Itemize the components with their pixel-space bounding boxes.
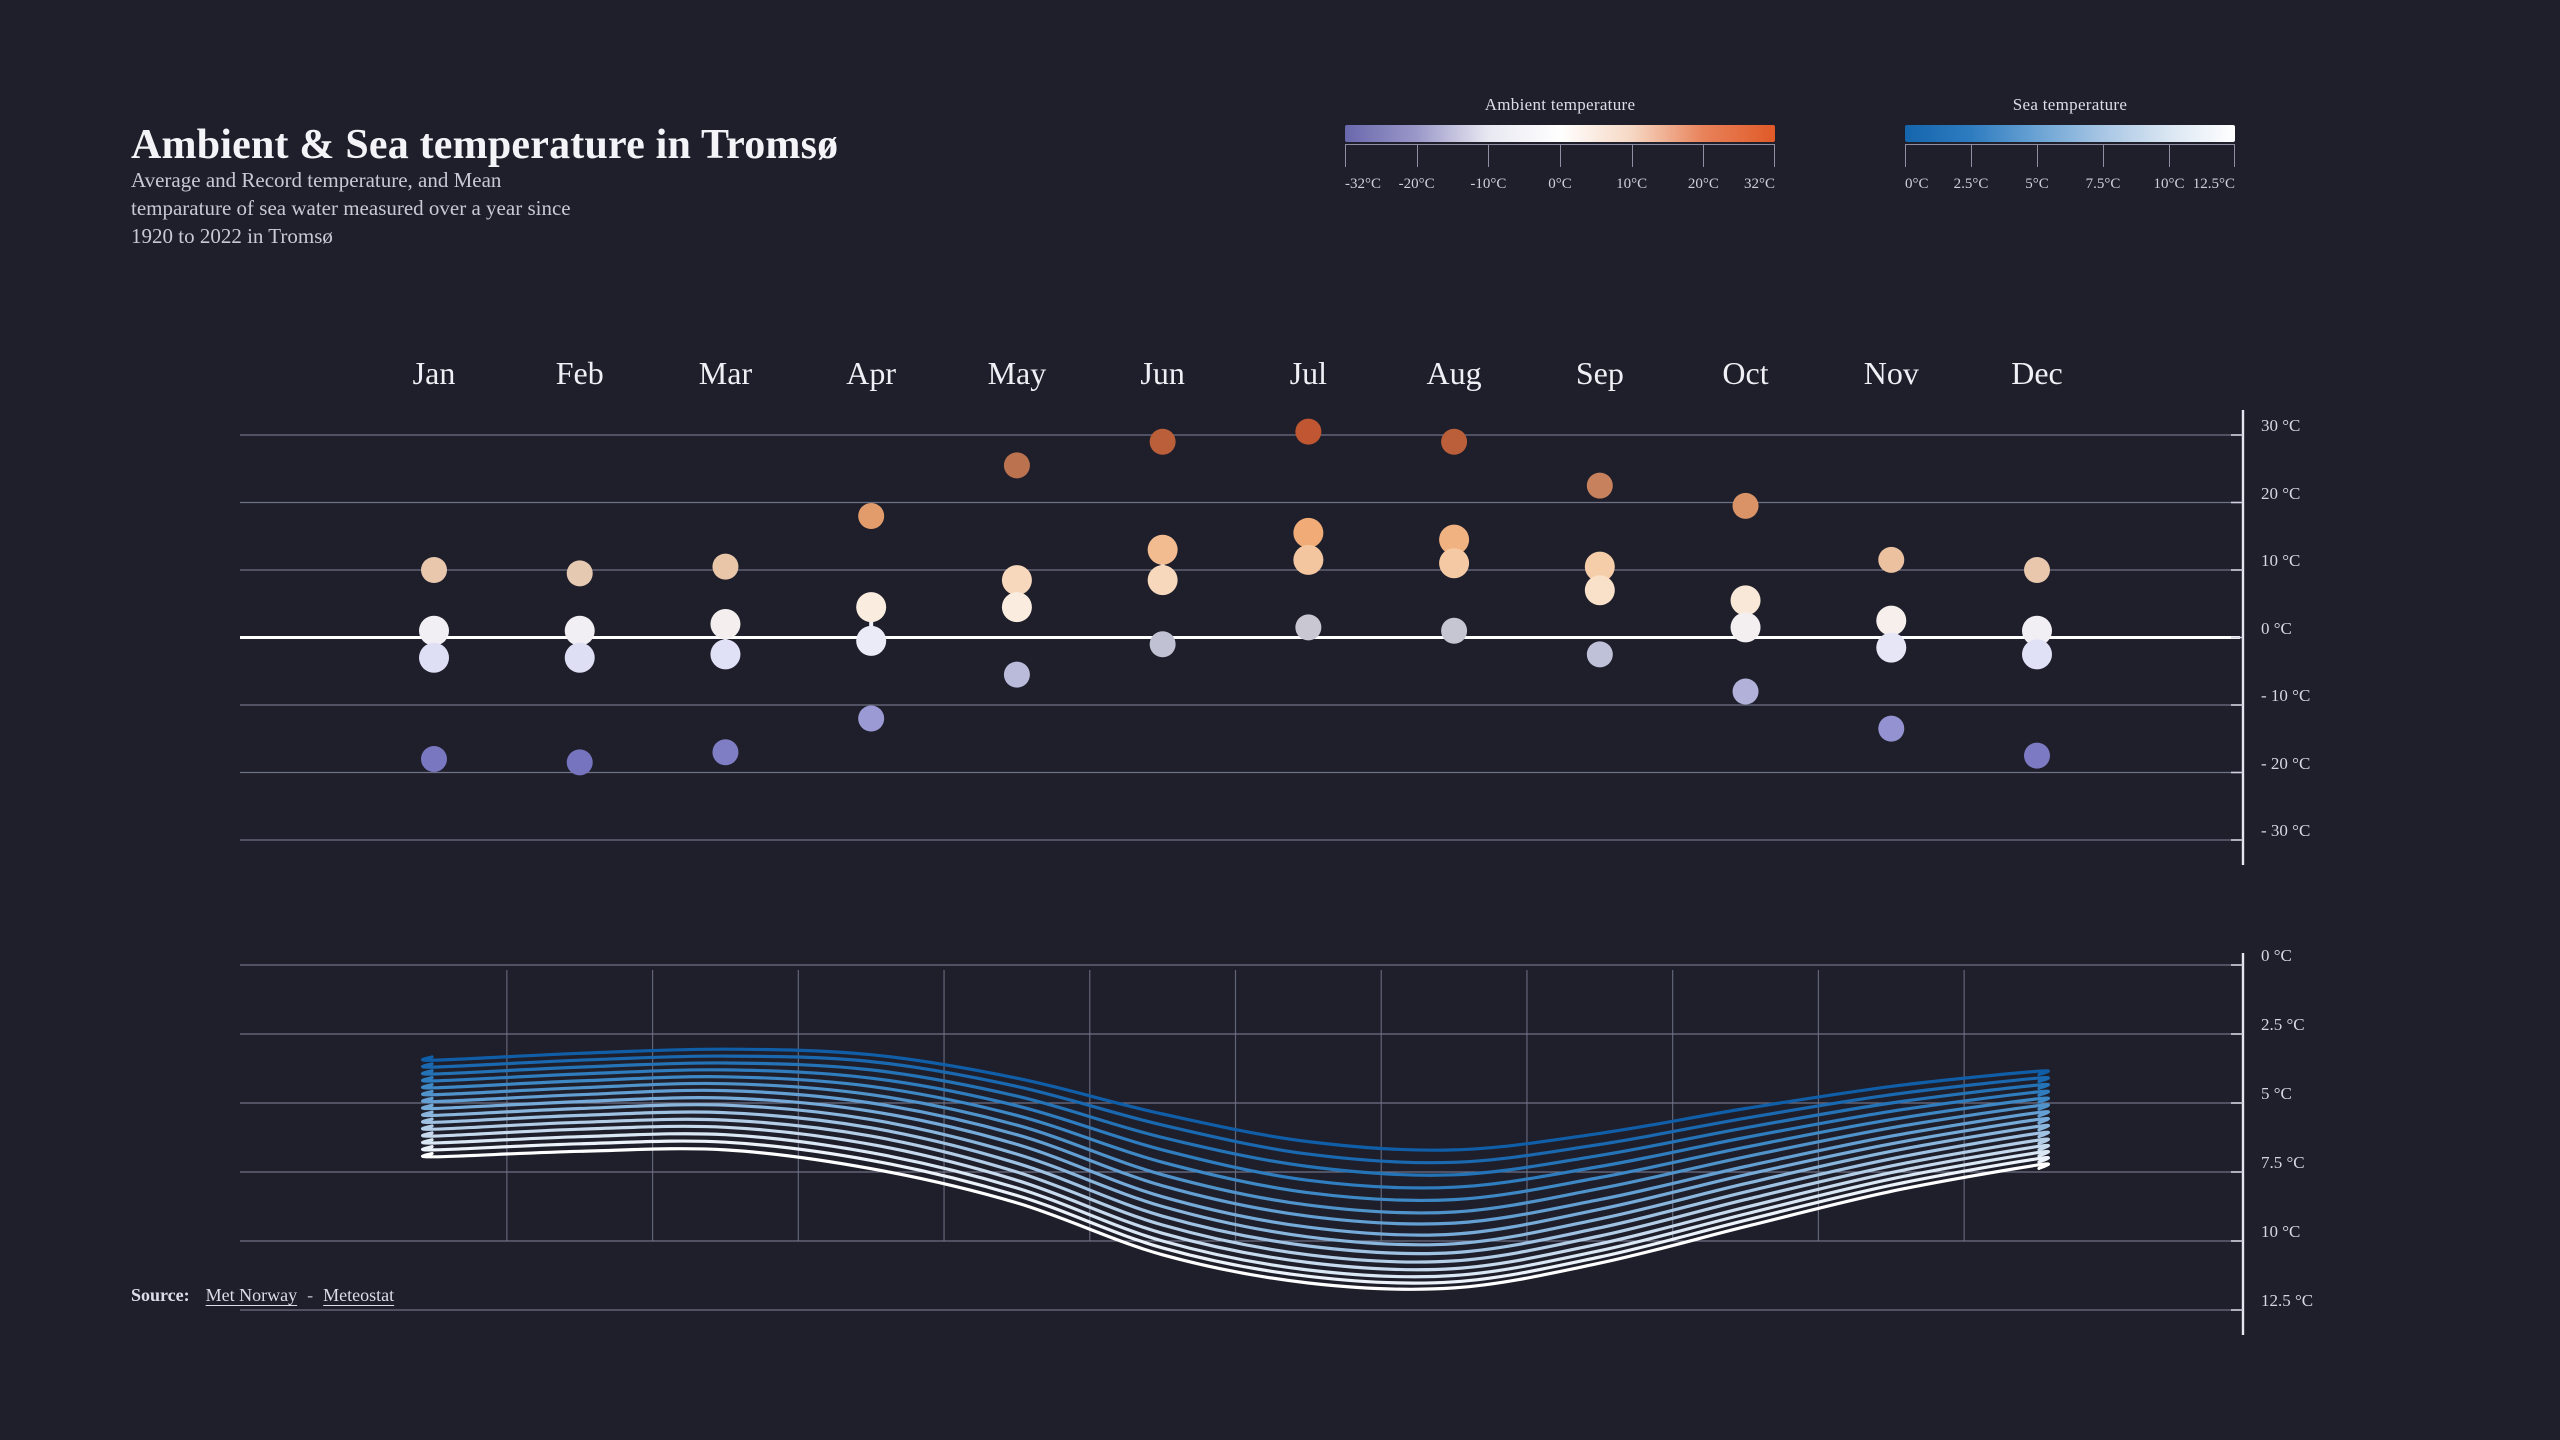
average-low-dot-jul[interactable] — [1293, 545, 1323, 575]
average-low-dot-may[interactable] — [1002, 592, 1032, 622]
y-axis-label: 5 °C — [2261, 1084, 2292, 1104]
record-high-dot-apr[interactable] — [858, 503, 884, 529]
average-high-dot-may[interactable] — [1002, 565, 1032, 595]
y-axis-label: 10 °C — [2261, 551, 2300, 571]
record-low-dot-jun[interactable] — [1150, 631, 1176, 657]
source-separator: - — [307, 1285, 313, 1305]
record-high-dot-jun[interactable] — [1150, 429, 1176, 455]
average-high-dot-jun[interactable] — [1148, 535, 1178, 565]
y-axis-label: 12.5 °C — [2261, 1291, 2313, 1311]
record-low-dot-jul[interactable] — [1295, 614, 1321, 640]
y-axis-label: 2.5 °C — [2261, 1015, 2305, 1035]
average-low-dot-nov[interactable] — [1876, 633, 1906, 663]
average-high-dot-nov[interactable] — [1876, 606, 1906, 636]
record-low-dot-sep[interactable] — [1587, 641, 1613, 667]
record-low-dot-dec[interactable] — [2024, 743, 2050, 769]
average-high-dot-oct[interactable] — [1731, 585, 1761, 615]
y-axis-label: 0 °C — [2261, 619, 2292, 639]
record-high-dot-nov[interactable] — [1878, 547, 1904, 573]
y-axis-label: 0 °C — [2261, 946, 2292, 966]
record-high-dot-jan[interactable] — [421, 557, 447, 583]
record-high-dot-oct[interactable] — [1733, 493, 1759, 519]
average-low-dot-apr[interactable] — [856, 626, 886, 656]
average-high-dot-mar[interactable] — [710, 609, 740, 639]
record-high-dot-jul[interactable] — [1295, 419, 1321, 445]
average-low-dot-aug[interactable] — [1439, 548, 1469, 578]
record-high-dot-dec[interactable] — [2024, 557, 2050, 583]
record-high-dot-mar[interactable] — [712, 554, 738, 580]
average-high-dot-jan[interactable] — [419, 616, 449, 646]
record-low-dot-mar[interactable] — [712, 739, 738, 765]
y-axis-label: 7.5 °C — [2261, 1153, 2305, 1173]
average-low-dot-jan[interactable] — [419, 643, 449, 673]
average-low-dot-feb[interactable] — [565, 643, 595, 673]
y-axis-label: - 20 °C — [2261, 754, 2310, 774]
record-low-dot-nov[interactable] — [1878, 716, 1904, 742]
record-high-dot-aug[interactable] — [1441, 429, 1467, 455]
average-high-dot-jul[interactable] — [1293, 518, 1323, 548]
record-low-dot-apr[interactable] — [858, 706, 884, 732]
average-low-dot-sep[interactable] — [1585, 575, 1615, 605]
source-link-meteostat[interactable]: Meteostat — [323, 1285, 394, 1305]
record-low-dot-feb[interactable] — [567, 749, 593, 775]
record-low-dot-oct[interactable] — [1733, 679, 1759, 705]
average-high-dot-apr[interactable] — [856, 592, 886, 622]
y-axis-label: - 10 °C — [2261, 686, 2310, 706]
dashboard-root: Ambient & Sea temperature in Tromsø Aver… — [0, 0, 2560, 1440]
average-high-dot-feb[interactable] — [565, 616, 595, 646]
y-axis-label: 30 °C — [2261, 416, 2300, 436]
record-high-dot-feb[interactable] — [567, 560, 593, 586]
average-low-dot-jun[interactable] — [1148, 565, 1178, 595]
source-footer: Source:Met Norway-Meteostat — [131, 1285, 398, 1306]
average-low-dot-oct[interactable] — [1731, 612, 1761, 642]
record-low-dot-aug[interactable] — [1441, 618, 1467, 644]
source-link-met-norway[interactable]: Met Norway — [206, 1285, 297, 1305]
record-high-dot-sep[interactable] — [1587, 473, 1613, 499]
ambient-chart-canvas — [0, 0, 2560, 900]
record-high-dot-may[interactable] — [1004, 452, 1030, 478]
ambient-temperature-chart: JanFebMarAprMayJunJulAugSepOctNovDec 30 … — [0, 0, 2560, 900]
y-axis-label: 10 °C — [2261, 1222, 2300, 1242]
average-low-dot-mar[interactable] — [710, 639, 740, 669]
y-axis-label: 20 °C — [2261, 484, 2300, 504]
source-label: Source: — [131, 1285, 190, 1305]
y-axis-label: - 30 °C — [2261, 821, 2310, 841]
record-low-dot-jan[interactable] — [421, 746, 447, 772]
record-low-dot-may[interactable] — [1004, 662, 1030, 688]
average-low-dot-dec[interactable] — [2022, 639, 2052, 669]
